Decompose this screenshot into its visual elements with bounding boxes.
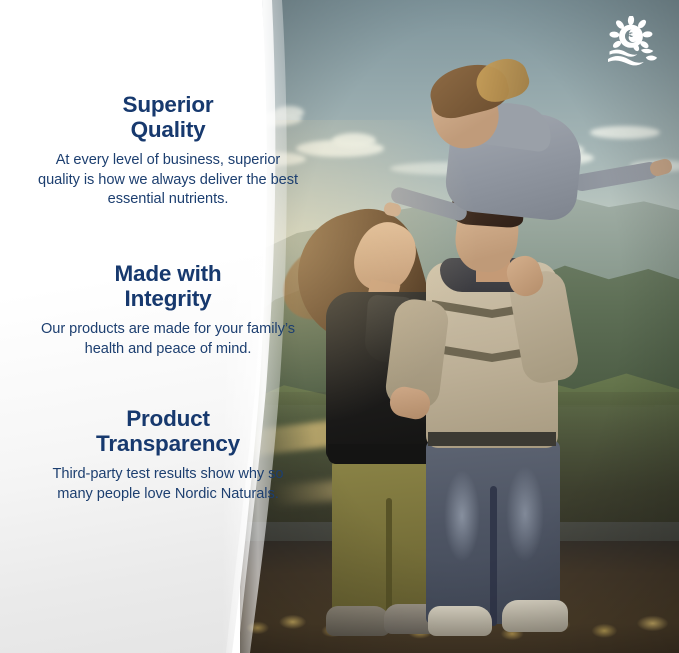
value-block-product-transparency: Product Transparency Third-party test re… <box>0 406 328 504</box>
child-hand <box>648 157 673 177</box>
woman-shoe <box>326 606 390 636</box>
block-heading: Superior Quality <box>34 92 302 142</box>
heading-line-2: Transparency <box>96 431 240 456</box>
man-shoe <box>428 606 492 636</box>
jeans-seam <box>490 486 497 626</box>
child-arm <box>572 161 660 193</box>
nordic-naturals-logo <box>600 16 662 68</box>
heading-line-2: Quality <box>131 117 206 142</box>
jeans-fade <box>444 470 480 562</box>
block-body: Third-party test results show why so man… <box>34 465 302 504</box>
sun-waves-logo-icon <box>600 16 662 68</box>
woman-pants-seam <box>386 498 392 622</box>
jeans-fade <box>506 466 544 562</box>
man-belt <box>428 432 556 446</box>
value-block-made-with-integrity: Made with Integrity Our products are mad… <box>0 261 328 359</box>
block-heading: Made with Integrity <box>34 261 302 311</box>
block-body: Our products are made for your family’s … <box>34 320 302 359</box>
heading-line-1: Made with <box>115 261 222 286</box>
block-heading: Product Transparency <box>34 406 302 456</box>
promo-banner: Superior Quality At every level of busin… <box>0 0 679 653</box>
heading-line-2: Integrity <box>125 286 212 311</box>
panel-content: Superior Quality At every level of busin… <box>0 0 268 653</box>
value-block-superior-quality: Superior Quality At every level of busin… <box>0 92 328 210</box>
block-body: At every level of business, superior qua… <box>34 151 302 210</box>
heading-line-1: Superior <box>123 92 214 117</box>
heading-line-1: Product <box>126 406 210 431</box>
man-shoe <box>502 600 568 632</box>
